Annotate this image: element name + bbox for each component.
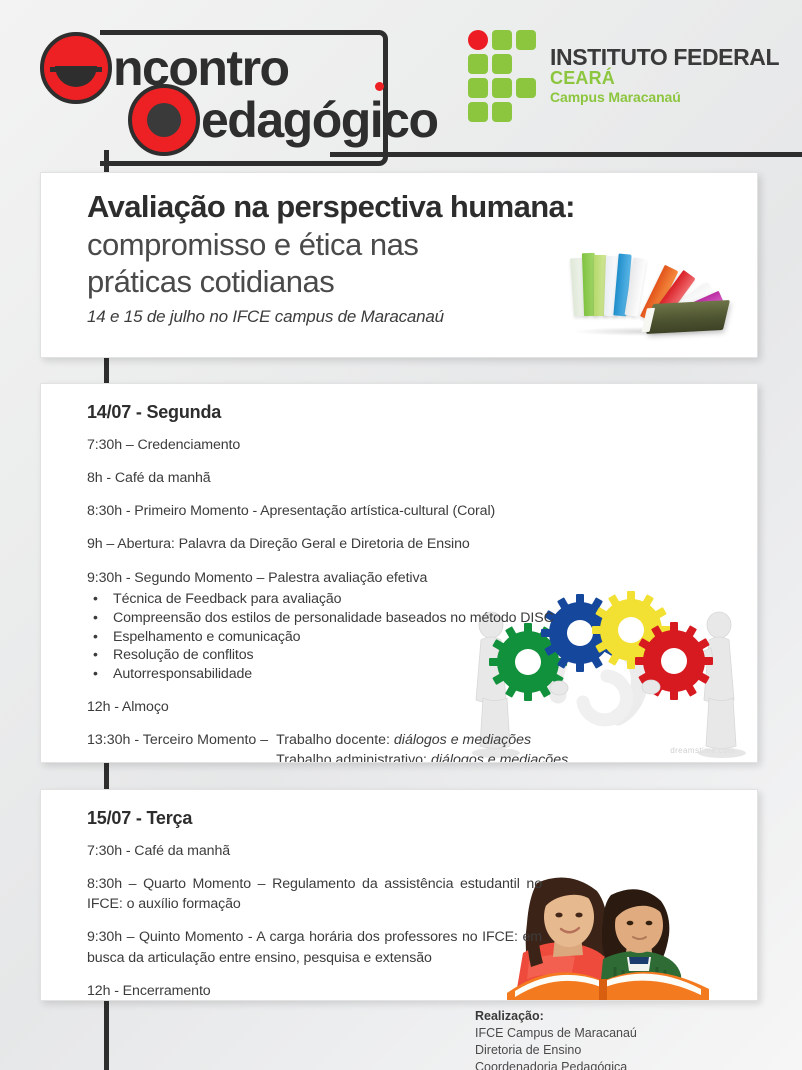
third-moment-rows: Trabalho docente: diálogos e mediações T… xyxy=(276,730,568,763)
list-item: Espelhamento e comunicação xyxy=(87,628,737,647)
ifce-grid-icon xyxy=(468,30,538,126)
schedule-item: 9:30h - Segundo Momento – Palestra avali… xyxy=(87,568,737,588)
third-moment-row-1-italic: diálogos e mediações xyxy=(394,732,531,748)
ifce-square xyxy=(492,102,512,122)
schedule-card-day-1: dreamstime.com 14/07 - Segunda 7:30h – C… xyxy=(40,383,758,763)
ifce-state: CEARÁ xyxy=(550,69,779,89)
ifce-logo: INSTITUTO FEDERAL CEARÁ Campus Maracanaú xyxy=(468,30,779,126)
ifce-square xyxy=(492,30,512,50)
third-moment-row-2-plain: Trabalho administrativo: xyxy=(276,752,431,763)
letter-p-circle-icon xyxy=(128,84,200,156)
ifce-square xyxy=(468,102,488,122)
ifce-red-circle-icon xyxy=(468,30,488,50)
event-logo: ncontro edagógico xyxy=(38,22,458,152)
schedule-item: 7:30h – Credenciamento xyxy=(87,435,737,455)
ifce-grid-row-4 xyxy=(468,102,538,122)
footer-credits: Realização: IFCE Campus de Maracanaú Dir… xyxy=(475,1008,637,1070)
ifce-title: INSTITUTO FEDERAL xyxy=(550,46,779,69)
schedule-item-lunch: 12h - Almoço xyxy=(87,697,737,717)
logo-word-pedagogico: edagógico xyxy=(128,84,438,156)
footer-line: IFCE Campus de Maracanaú xyxy=(475,1025,637,1042)
ifce-grid-row-1 xyxy=(468,30,538,50)
list-item: Autorresponsabilidade xyxy=(87,665,737,684)
ifce-square xyxy=(468,54,488,74)
ifce-square xyxy=(516,30,536,50)
ifce-wordmark: INSTITUTO FEDERAL CEARÁ Campus Maracanaú xyxy=(550,30,779,106)
footer-heading: Realização: xyxy=(475,1008,637,1025)
list-item: Compreensão dos estilos de personalidade… xyxy=(87,609,737,628)
ifce-square xyxy=(492,78,512,98)
ifce-grid-row-3 xyxy=(468,78,538,98)
third-moment-row-2-italic: diálogos e mediações xyxy=(431,752,568,763)
logo-text-edagogico: edagógico xyxy=(201,95,438,145)
third-moment-row-1: Trabalho docente: diálogos e mediações xyxy=(276,730,568,750)
third-moment-row-1-plain: Trabalho docente: xyxy=(276,732,394,748)
third-moment-label: 13:30h - Terceiro Momento – xyxy=(87,730,276,763)
schedule-item: 8:30h – Quarto Momento – Regulamento da … xyxy=(87,874,542,914)
third-moment-row-2: Trabalho administrativo: diálogos e medi… xyxy=(276,750,568,763)
day-1-topic-list: Técnica de Feedback para avaliação Compr… xyxy=(87,590,737,684)
event-title-card: Avaliação na perspectiva humana: comprom… xyxy=(40,172,758,358)
ifce-square xyxy=(516,78,536,98)
ifce-square xyxy=(468,78,488,98)
schedule-item: 7:30h - Café da manhã xyxy=(87,841,737,861)
event-title-content: Avaliação na perspectiva humana: comprom… xyxy=(41,173,757,337)
schedule-day-1-content: 14/07 - Segunda 7:30h – Credenciamento 8… xyxy=(41,384,757,763)
page-header: ncontro edagógico xyxy=(0,0,802,160)
schedule-item-third-moment: 13:30h - Terceiro Momento – Trabalho doc… xyxy=(87,730,737,763)
books-illustration-icon xyxy=(566,233,731,338)
footer-line: Coordenadoria Pedagógica xyxy=(475,1059,637,1070)
schedule-item: 9h – Abertura: Palavra da Direção Geral … xyxy=(87,534,737,554)
logo-accent-dot-icon xyxy=(375,82,384,91)
footer-line: Diretoria de Ensino xyxy=(475,1042,637,1059)
schedule-item: 8:30h - Primeiro Momento - Apresentação … xyxy=(87,501,737,521)
list-item: Resolução de conflitos xyxy=(87,646,737,665)
schedule-item: 9:30h – Quinto Momento - A carga horária… xyxy=(87,927,542,967)
ifce-grid-row-2 xyxy=(468,54,538,74)
list-item: Técnica de Feedback para avaliação xyxy=(87,590,737,609)
book-lying-flat xyxy=(646,300,730,334)
schedule-card-day-2: 15/07 - Terça 7:30h - Café da manhã 8:30… xyxy=(40,789,758,1001)
event-title-line-1: Avaliação na perspectiva humana: xyxy=(87,189,737,226)
ifce-campus: Campus Maracanaú xyxy=(550,89,779,106)
day-2-heading: 15/07 - Terça xyxy=(87,808,737,829)
day-1-heading: 14/07 - Segunda xyxy=(87,402,737,423)
schedule-item: 12h - Encerramento xyxy=(87,981,737,1001)
letter-e-circle-icon xyxy=(40,32,112,104)
ifce-square xyxy=(492,54,512,74)
schedule-item: 8h - Café da manhã xyxy=(87,468,737,488)
